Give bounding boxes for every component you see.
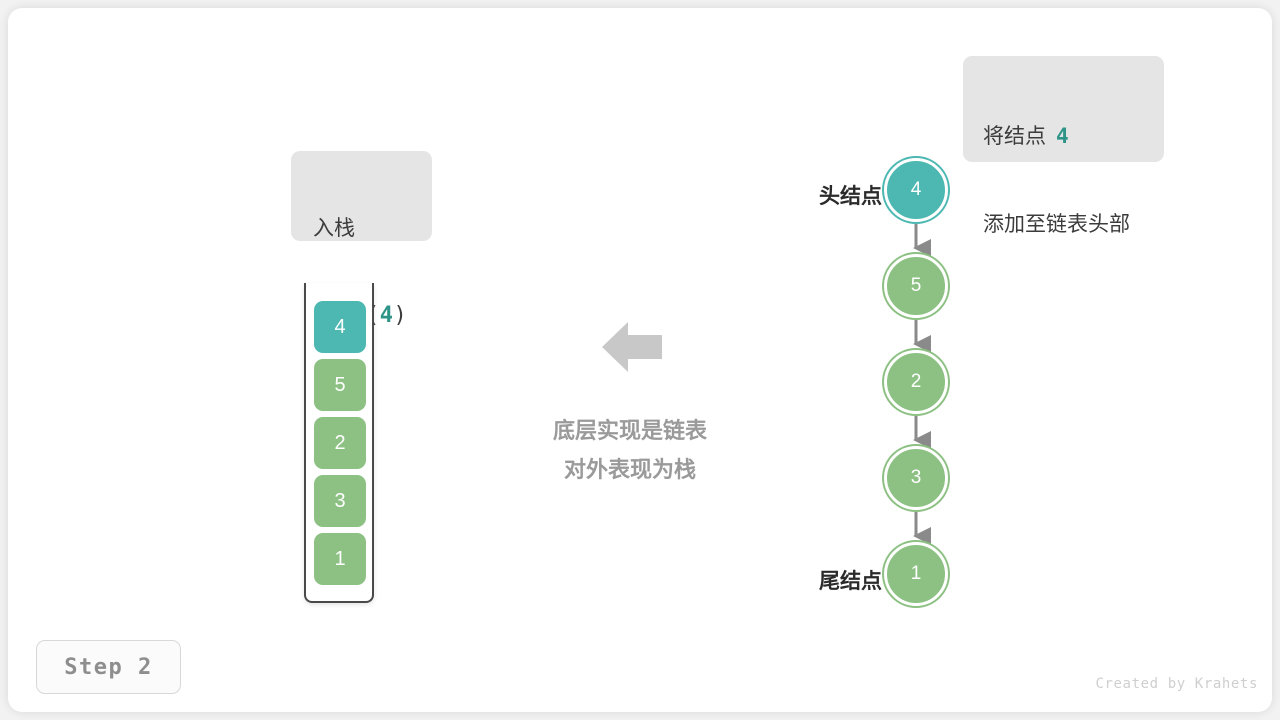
credit-text: Created by Krahets bbox=[1095, 676, 1258, 692]
step-badge: Step 2 bbox=[36, 640, 181, 694]
tail-node-label: 尾结点 bbox=[752, 565, 882, 595]
push-operation-label: 入栈 push(4) bbox=[291, 151, 432, 241]
stack-cell: 3 bbox=[314, 475, 366, 527]
stack-cell: 5 bbox=[314, 359, 366, 411]
insert-line1: 将结点4 bbox=[983, 120, 1144, 154]
linked-list-node: 4 bbox=[884, 158, 948, 222]
linked-list-node: 2 bbox=[884, 350, 948, 414]
insert-line2: 添加至链表头部 bbox=[983, 209, 1144, 242]
stack-cell-list: 45231 bbox=[314, 301, 366, 591]
caption-line-1: 底层实现是链表 bbox=[500, 412, 760, 451]
insert-head-label: 将结点4 添加至链表头部 bbox=[963, 56, 1164, 162]
head-node-label: 头结点 bbox=[752, 180, 882, 210]
push-label-cn: 入栈 bbox=[311, 213, 412, 246]
linked-list: 45231 bbox=[884, 158, 956, 628]
stack-cell: 2 bbox=[314, 417, 366, 469]
push-call-value: 4 bbox=[380, 303, 394, 328]
linked-list-node: 3 bbox=[884, 446, 948, 510]
diagram-canvas: 入栈 push(4) 将结点4 添加至链表头部 45231 底层实现是链表 对外… bbox=[0, 0, 1280, 720]
stack-cell: 1 bbox=[314, 533, 366, 585]
insert-line1-prefix: 将结点 bbox=[983, 125, 1046, 148]
stack-container: 45231 bbox=[304, 283, 374, 603]
push-call-suffix: ) bbox=[393, 303, 407, 328]
implementation-caption: 底层实现是链表 对外表现为栈 bbox=[500, 412, 760, 489]
linked-list-node: 5 bbox=[884, 254, 948, 318]
linked-list-node: 1 bbox=[884, 542, 948, 606]
arrow-left-icon bbox=[602, 318, 662, 376]
insert-line1-value: 4 bbox=[1056, 124, 1069, 148]
stack-cell: 4 bbox=[314, 301, 366, 353]
caption-line-2: 对外表现为栈 bbox=[500, 451, 760, 490]
